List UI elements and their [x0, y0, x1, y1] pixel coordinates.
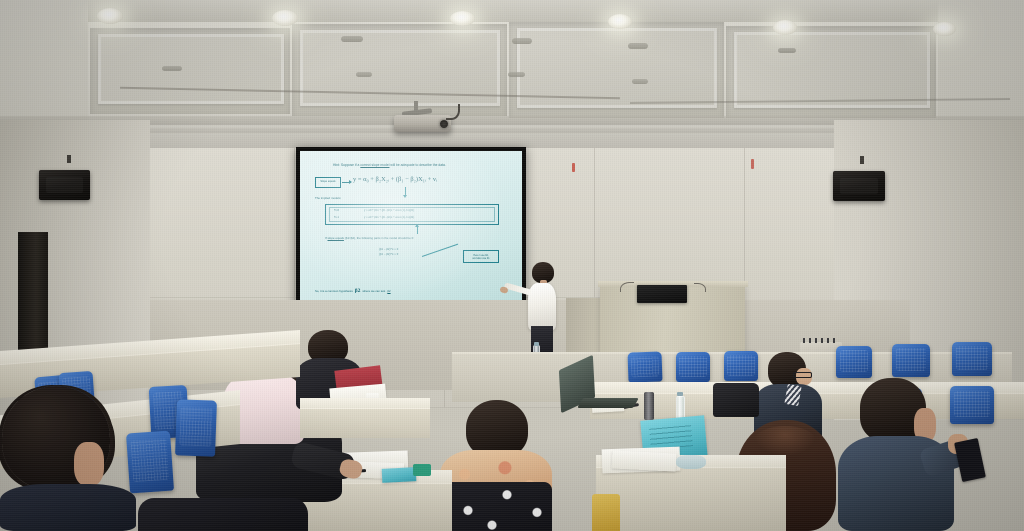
downlight: [773, 20, 797, 35]
slide-subheading: The implied models:: [315, 197, 341, 201]
mouse[interactable]: [676, 455, 706, 469]
slide-equations: (β1 − β2)*x = 0 (β1 − β2)*x = 0: [379, 247, 398, 257]
chair[interactable]: [676, 352, 710, 382]
ceiling-vent: [508, 72, 525, 77]
ceiling-vent: [778, 48, 796, 53]
slide-arrow-right-icon: [342, 182, 351, 183]
chair[interactable]: [175, 399, 217, 456]
lecture-hall-photo: Hint: Suppose if a correct slope model w…: [0, 0, 1024, 531]
ceiling-vent: [628, 43, 648, 49]
slide-main-equation: y = α₀ + β₂X₂ᵢ + (β₁ − β₂)X₁ᵢ + vᵢ: [353, 176, 437, 185]
slide-model-box: Y=0 y = α0 + β1x + (β1−β2)x + error (1),…: [325, 204, 499, 225]
chair[interactable]: [892, 344, 930, 377]
projection-screen[interactable]: Hint: Suppose if a correct slope model w…: [296, 147, 526, 313]
downlight: [933, 22, 956, 36]
glasses-icon: [793, 372, 812, 378]
attendee-phone-user: [838, 378, 956, 531]
slide-heading: Hint: Suppose if a correct slope model w…: [333, 163, 503, 167]
downlight: [272, 10, 298, 26]
teal-book[interactable]: [382, 467, 417, 483]
yellow-container[interactable]: [592, 494, 620, 531]
equipment-knobs: [803, 338, 839, 343]
ceiling-vent: [632, 79, 648, 84]
desk-front: [300, 408, 430, 438]
slide-arrow-up-icon: [417, 227, 418, 234]
wall-indicator-light-2: [751, 159, 754, 169]
gooseneck-microphone[interactable]: [620, 282, 634, 292]
ceiling-vent: [341, 36, 363, 42]
slide-bottom-text: So, it is a common hypothesis β2 where w…: [315, 288, 391, 295]
slide-leader-line: [422, 244, 458, 257]
papers[interactable]: [612, 450, 677, 471]
slide-content: Hint: Suppose if a correct slope model w…: [309, 157, 513, 301]
projector-lens: [440, 120, 448, 128]
slide-condition-text: If slope equals (β1=β2), the following p…: [325, 237, 414, 241]
thermos[interactable]: [644, 392, 654, 420]
chair[interactable]: [126, 431, 174, 494]
chair[interactable]: [836, 346, 872, 378]
slide-callout-box: Here I use b0, and also use b1: [463, 250, 499, 263]
smartphone[interactable]: [954, 438, 986, 482]
slide-note-box: Slope equals: [315, 177, 341, 188]
chair[interactable]: [627, 351, 662, 382]
slide-model-row: Y=0 y = α0 + β1x + (β1−β2)x + error (1),…: [334, 209, 490, 213]
chair[interactable]: [952, 342, 992, 376]
downlight: [608, 14, 632, 29]
podium-monitor[interactable]: [637, 285, 687, 303]
wall-indicator-light: [572, 163, 575, 172]
chair[interactable]: [950, 386, 994, 424]
downlight: [97, 8, 123, 24]
ceiling-vent: [162, 66, 182, 71]
laptop-base: [577, 398, 639, 408]
desk-front: [596, 467, 786, 531]
attendee-foreground-shoulder: [138, 498, 308, 531]
green-phone[interactable]: [413, 464, 431, 476]
slide-model-row: Y=1 y = α0 + β2x + (β1−β2)x + error (2),…: [334, 216, 490, 220]
ceiling-vent: [512, 38, 532, 44]
downlight: [450, 11, 475, 26]
attendee-foreground-left: [0, 386, 130, 531]
slide-arrow-down-icon: [405, 187, 406, 195]
ceiling-vent: [356, 72, 372, 77]
black-bag[interactable]: [713, 383, 759, 417]
ear-and-neck: [74, 442, 104, 486]
